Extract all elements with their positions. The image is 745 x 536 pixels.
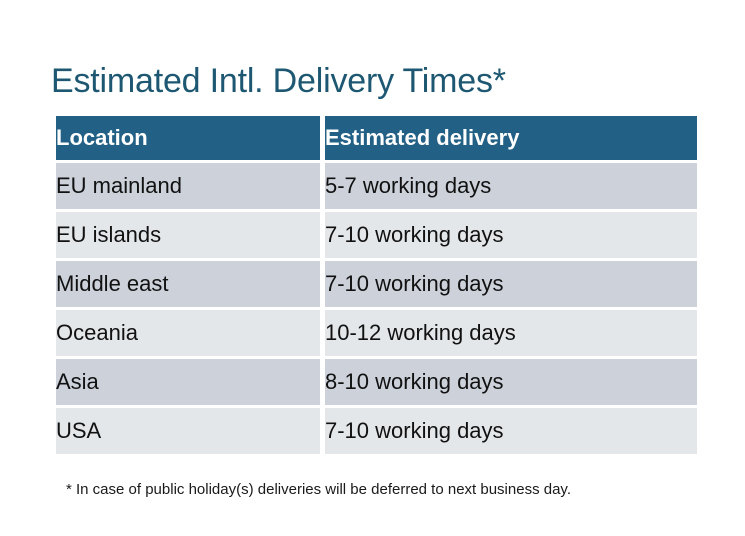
cell-location: USA (56, 408, 320, 454)
table-body: EU mainland 5-7 working days EU islands … (56, 163, 697, 454)
table-row: USA 7-10 working days (56, 408, 697, 454)
column-header-location: Location (56, 116, 320, 160)
cell-location: EU mainland (56, 163, 320, 209)
column-header-delivery: Estimated delivery (325, 116, 697, 160)
cell-location: EU islands (56, 212, 320, 258)
footnote-text: * In case of public holiday(s) deliverie… (66, 480, 571, 500)
table-row: Oceania 10-12 working days (56, 310, 697, 356)
table-row: Middle east 7-10 working days (56, 261, 697, 307)
table-row: EU mainland 5-7 working days (56, 163, 697, 209)
table-row: EU islands 7-10 working days (56, 212, 697, 258)
table-header-row: Location Estimated delivery (56, 116, 697, 160)
delivery-times-panel: Estimated Intl. Delivery Times* Location… (0, 0, 745, 536)
cell-location: Oceania (56, 310, 320, 356)
cell-location: Middle east (56, 261, 320, 307)
cell-delivery: 7-10 working days (325, 212, 697, 258)
cell-delivery: 5-7 working days (325, 163, 697, 209)
cell-delivery: 8-10 working days (325, 359, 697, 405)
cell-location: Asia (56, 359, 320, 405)
page-title: Estimated Intl. Delivery Times* (51, 60, 506, 102)
cell-delivery: 7-10 working days (325, 261, 697, 307)
table-row: Asia 8-10 working days (56, 359, 697, 405)
cell-delivery: 7-10 working days (325, 408, 697, 454)
cell-delivery: 10-12 working days (325, 310, 697, 356)
delivery-times-table: Location Estimated delivery EU mainland … (51, 113, 702, 457)
table-header: Location Estimated delivery (56, 116, 697, 160)
